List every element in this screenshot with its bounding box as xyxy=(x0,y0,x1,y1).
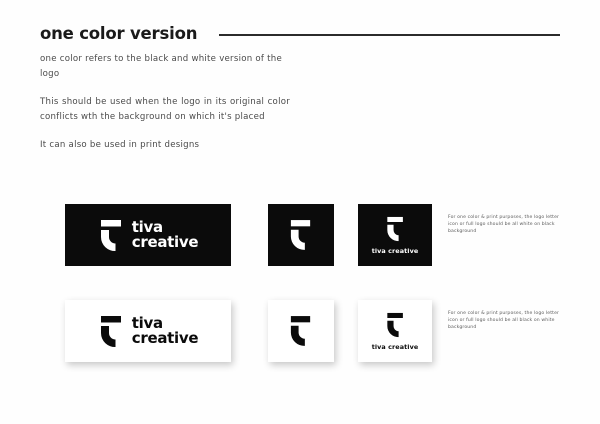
logo-lockup-stacked: tiva creative xyxy=(372,312,419,351)
wordmark-line-2: creative xyxy=(132,331,198,346)
tiva-logo-mark-icon xyxy=(98,219,125,252)
logo-specimen-grid: tiva creative xyxy=(0,196,600,388)
logo-lockup-stacked: tiva creative xyxy=(372,216,419,255)
brand-guideline-page: one color version one color refers to th… xyxy=(0,0,600,424)
paragraph-intro: one color refers to the black and white … xyxy=(40,52,290,82)
tiva-logo-mark-icon xyxy=(288,219,314,251)
specimen-card-dark-stacked[interactable]: tiva creative xyxy=(358,204,432,266)
tiva-logo-mark-icon xyxy=(385,312,406,338)
logo-lockup-horizontal: tiva creative xyxy=(98,315,198,348)
specimen-card-light-stacked[interactable]: tiva creative xyxy=(358,300,432,362)
page-title: one color version xyxy=(40,24,197,43)
caption-dark-usage: For one color & print purposes, the logo… xyxy=(448,214,566,236)
paragraph-print: It can also be used in print designs xyxy=(40,138,290,153)
specimen-card-light-horizontal[interactable]: tiva creative xyxy=(65,300,231,362)
tiva-logo-mark-icon xyxy=(98,315,125,348)
description-block: one color refers to the black and white … xyxy=(40,52,290,166)
wordmark: tiva creative xyxy=(132,316,198,347)
wordmark-line-2: creative xyxy=(132,235,198,250)
wordmark-single-line: tiva creative xyxy=(372,344,419,351)
tiva-logo-mark-icon xyxy=(385,216,406,242)
wordmark: tiva creative xyxy=(132,220,198,251)
specimen-row-light: tiva creative xyxy=(0,292,600,388)
specimen-card-dark-horizontal[interactable]: tiva creative xyxy=(65,204,231,266)
paragraph-usage: This should be used when the logo in its… xyxy=(40,95,290,125)
specimen-card-light-icon[interactable] xyxy=(268,300,334,362)
specimen-card-dark-icon[interactable] xyxy=(268,204,334,266)
specimen-row-dark: tiva creative xyxy=(0,196,600,292)
tiva-logo-mark-icon xyxy=(288,315,314,347)
page-header: one color version xyxy=(40,22,560,44)
logo-lockup-horizontal: tiva creative xyxy=(98,219,198,252)
title-divider xyxy=(219,34,560,35)
wordmark-single-line: tiva creative xyxy=(372,248,419,255)
caption-light-usage: For one color & print purposes, the logo… xyxy=(448,310,566,332)
